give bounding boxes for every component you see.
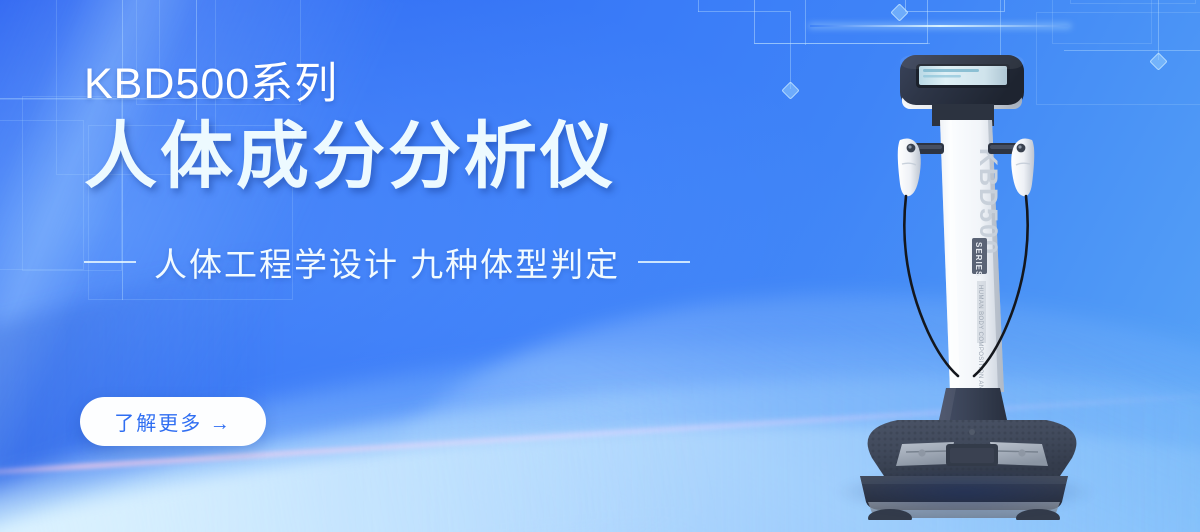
subtitle-dash-left xyxy=(84,261,136,263)
banner-eyebrow: KBD500系列 xyxy=(84,62,724,107)
subtitle-dash-right xyxy=(638,261,690,263)
device-column: KBD500 SERIES HUMAN BODY COMPOSITION ANA… xyxy=(940,120,1004,415)
learn-more-label: 了解更多 → xyxy=(114,407,232,436)
learn-more-button[interactable]: 了解更多 → xyxy=(80,397,266,446)
deco-node-3 xyxy=(1149,52,1167,70)
foot-electrode-right xyxy=(990,442,1048,466)
deco-rect-7 xyxy=(754,0,928,44)
deco-hline-2 xyxy=(698,11,790,12)
hand-grip-right xyxy=(1011,138,1034,196)
body-composition-analyzer-image: KBD500 SERIES HUMAN BODY COMPOSITION ANA… xyxy=(828,40,1100,520)
deco-glow-line xyxy=(810,25,1070,27)
column-series-badge: SERIES xyxy=(972,238,987,277)
deco-vline-4 xyxy=(790,11,791,89)
product-banner: KBD500 SERIES HUMAN BODY COMPOSITION ANA… xyxy=(0,0,1200,532)
deco-rect-8 xyxy=(905,0,1005,12)
deco-rect-5 xyxy=(0,120,84,270)
hand-grip-left xyxy=(898,138,921,196)
device-svg: KBD500 SERIES HUMAN BODY COMPOSITION ANA… xyxy=(828,40,1100,520)
banner-copy: KBD500系列 人体成分分析仪 人体工程学设计 九种体型判定 xyxy=(84,62,724,286)
banner-headline: 人体成分分析仪 xyxy=(84,120,724,194)
svg-text:SERIES: SERIES xyxy=(974,242,983,277)
device-display-head xyxy=(900,55,1024,109)
banner-subtitle-row: 人体工程学设计 九种体型判定 xyxy=(84,238,724,286)
banner-subtitle: 人体工程学设计 九种体型判定 xyxy=(154,238,620,286)
deco-vline-3 xyxy=(698,0,699,12)
foot-electrode-left xyxy=(896,442,954,466)
deco-vline-7 xyxy=(1158,0,1159,60)
deco-rect-9 xyxy=(1052,0,1152,44)
deco-node-2 xyxy=(890,3,908,21)
deco-vline-5 xyxy=(805,0,806,45)
deco-rect-10 xyxy=(1070,0,1196,4)
deco-node-1 xyxy=(781,81,799,99)
device-ground-shadow xyxy=(836,470,1094,514)
